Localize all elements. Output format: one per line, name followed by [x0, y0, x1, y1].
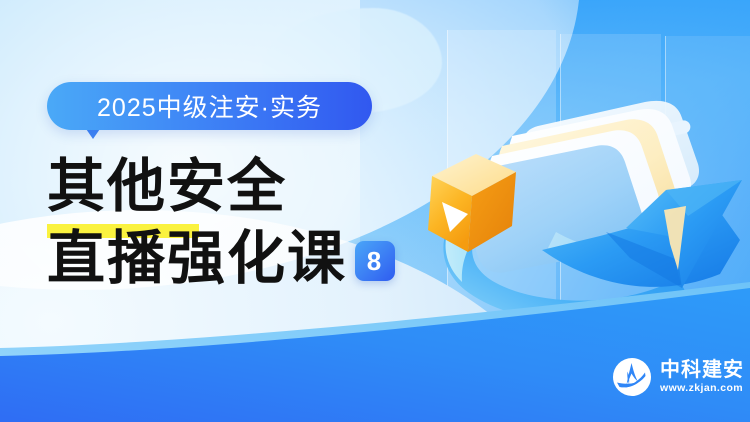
- zkjan-circle-logo-icon: [612, 357, 652, 397]
- brand-name: 中科建安: [660, 359, 744, 381]
- bottom-wave: [0, 282, 750, 422]
- brand-website: www.zkjan.com: [660, 381, 744, 395]
- course-banner: 2025中级注安·实务 其他安全 直播强化课 8 中科建安 www.zkjan.…: [0, 0, 750, 422]
- title-block: 其他安全 直播强化课 8: [47, 150, 467, 294]
- title-line-1-wrap: 其他安全: [47, 150, 467, 222]
- title-line-2-wrap: 直播强化课 8: [47, 222, 467, 294]
- title-line-1: 其他安全: [47, 152, 287, 220]
- title-line-2: 直播强化课: [47, 222, 347, 294]
- course-category-label: 2025中级注安·实务: [97, 88, 322, 124]
- episode-number-badge: 8: [355, 241, 395, 281]
- brand-logo-text: 中科建安 www.zkjan.com: [660, 359, 744, 395]
- brand-logo: 中科建安 www.zkjan.com: [612, 357, 744, 397]
- course-category-badge: 2025中级注安·实务: [47, 82, 372, 130]
